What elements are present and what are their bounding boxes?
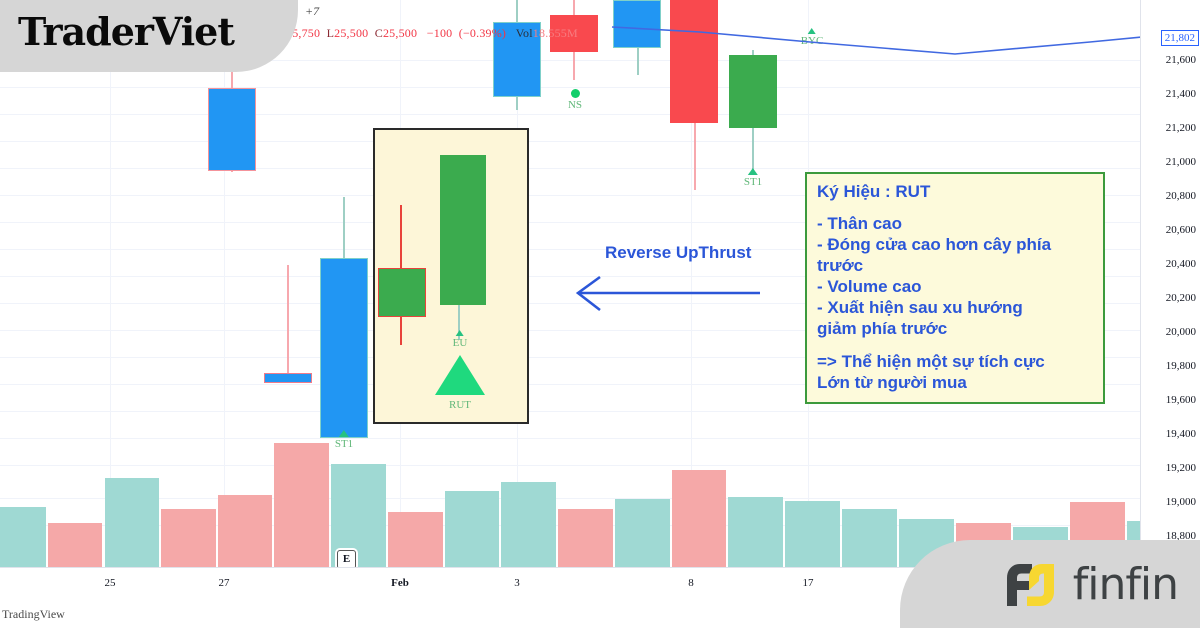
rut-marker[interactable]: RUT	[449, 398, 471, 411]
volume-bar[interactable]	[0, 507, 46, 567]
price-tick: 21,400	[1166, 88, 1196, 100]
price-tick: 20,800	[1166, 190, 1196, 202]
legend-change: −100	[427, 26, 453, 40]
volume-bar[interactable]	[161, 509, 216, 567]
triangle-up-icon	[748, 168, 758, 175]
note-bullet: - Volume cao	[817, 276, 1093, 297]
marker-label: EU	[453, 337, 468, 349]
price-axis[interactable]: 21,802 21,600 21,400 21,200 21,000 20,80…	[1140, 0, 1200, 567]
volume-bar[interactable]	[445, 491, 499, 567]
volume-bar[interactable]	[842, 509, 897, 567]
note-box-rut[interactable]: Ký Hiệu : RUT - Thân cao - Đóng cửa cao …	[805, 172, 1105, 404]
legend-close-value: 25,500	[383, 26, 417, 40]
tradingview-credit: TradingView	[2, 607, 65, 622]
legend-close-label: C	[375, 26, 383, 40]
candle-wick	[287, 265, 289, 380]
note-bullet: - Xuất hiện sau xu hướng giảm phía trước	[817, 297, 1093, 339]
marker-label: ST1	[335, 438, 353, 450]
triangle-up-icon	[339, 430, 349, 437]
price-tick: 20,000	[1166, 326, 1196, 338]
dot-icon	[571, 89, 580, 98]
price-tick: 19,000	[1166, 496, 1196, 508]
price-tick: 21,200	[1166, 122, 1196, 134]
volume-bar[interactable]	[728, 497, 783, 567]
volume-bar[interactable]	[785, 501, 840, 567]
price-badge: 21,802	[1161, 30, 1199, 46]
gridline	[0, 498, 1140, 499]
ns-marker[interactable]: NS	[568, 89, 582, 111]
marker-label: ST1	[744, 176, 762, 188]
time-tick: Feb	[391, 577, 409, 589]
volume-bar[interactable]	[274, 443, 329, 567]
price-tick: 20,400	[1166, 258, 1196, 270]
candle-body	[320, 258, 368, 438]
volume-bar[interactable]	[615, 499, 670, 567]
volume-bar[interactable]	[501, 482, 556, 567]
gridline	[0, 168, 1140, 169]
candle-body	[613, 0, 661, 48]
legend-overflow: +7	[305, 4, 319, 19]
gridline	[0, 411, 1140, 412]
triangle-up-icon	[808, 28, 816, 34]
note-title: Ký Hiệu : RUT	[817, 181, 1093, 202]
volume-bar[interactable]	[218, 495, 272, 567]
finfin-watermark: finfin	[900, 540, 1200, 628]
triangle-up-icon	[456, 330, 464, 336]
chart-legend[interactable]: 25,750 L25,500 C25,500 −100 (−0.39%) Vol…	[286, 26, 578, 41]
candle-body	[670, 0, 718, 123]
gridline	[0, 465, 1140, 466]
price-tick: 21,600	[1166, 54, 1196, 66]
legend-change-pct: (−0.39%)	[459, 26, 506, 40]
marker-label: RUT	[449, 399, 471, 411]
gridline	[0, 141, 1140, 142]
candle-body	[440, 155, 486, 305]
candle-body	[378, 268, 426, 317]
time-tick: 25	[105, 577, 116, 589]
note-bullet: - Đóng cửa cao hơn cây phía trước	[817, 234, 1093, 276]
finfin-logo-icon	[1002, 560, 1064, 610]
price-tick: 19,400	[1166, 428, 1196, 440]
volume-bar[interactable]	[48, 523, 102, 567]
st1-marker-2[interactable]: ST1	[744, 168, 762, 188]
time-tick: 17	[803, 577, 814, 589]
gridline-vertical	[224, 0, 225, 567]
volume-bar[interactable]	[558, 509, 613, 567]
price-tick: 21,000	[1166, 156, 1196, 168]
price-tick: 20,200	[1166, 292, 1196, 304]
legend-volume-label: Vol	[516, 26, 533, 40]
time-tick: 3	[514, 577, 520, 589]
price-tick: 19,200	[1166, 462, 1196, 474]
candle-wick	[343, 197, 345, 262]
legend-low-value: 25,500	[334, 26, 368, 40]
time-tick: 8	[688, 577, 694, 589]
byc-marker[interactable]: BYC	[801, 28, 824, 47]
volume-bar[interactable]	[388, 512, 443, 567]
st1-marker-1[interactable]: ST1	[335, 430, 353, 450]
volume-bar[interactable]	[672, 470, 726, 567]
gridline	[0, 114, 1140, 115]
gridline	[0, 438, 1140, 439]
chart-screenshot: ST1 EU RUT NS ST1 BYC	[0, 0, 1200, 628]
candle-body	[208, 88, 256, 171]
marker-label: NS	[568, 99, 582, 111]
gridline	[0, 87, 1140, 88]
candle-body	[264, 373, 312, 383]
note-conclusion: => Thể hiện một sự tích cực Lớn từ người…	[817, 351, 1093, 393]
eu-marker[interactable]: EU	[453, 330, 468, 349]
candle-body	[729, 55, 777, 128]
note-bullet: - Thân cao	[817, 213, 1093, 234]
reverse-upthrust-label: Reverse UpThrust	[605, 243, 751, 263]
legend-volume-value: 18.555M	[533, 26, 578, 40]
finfin-logo-text: finfin	[1073, 563, 1178, 607]
price-tick: 20,600	[1166, 224, 1196, 236]
legend-low-label: L	[327, 26, 335, 40]
price-tick: 19,800	[1166, 360, 1196, 372]
time-tick: 27	[219, 577, 230, 589]
volume-bar[interactable]	[105, 478, 159, 567]
traderviet-logo-text: TraderViet	[18, 9, 234, 54]
price-tick: 19,600	[1166, 394, 1196, 406]
marker-label: BYC	[801, 35, 824, 47]
rut-big-triangle-icon	[435, 355, 485, 395]
traderviet-watermark: TraderViet	[0, 0, 298, 72]
